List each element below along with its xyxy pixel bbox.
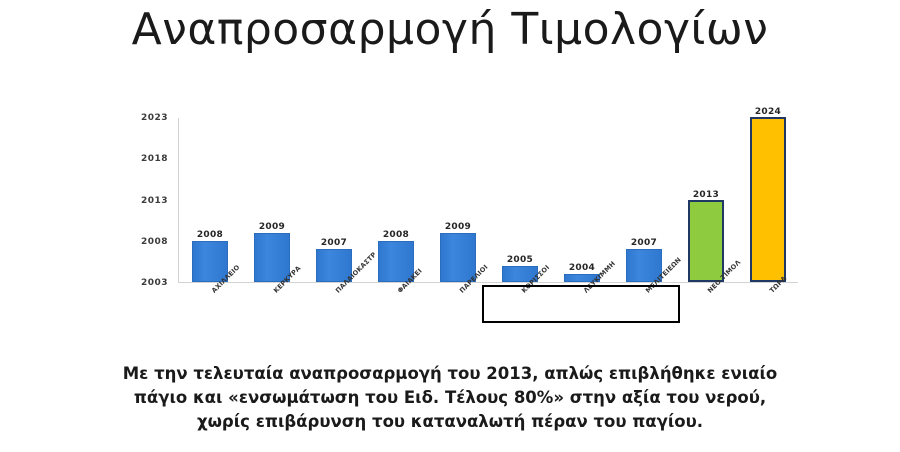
bar-value-label: 2008 [197, 230, 223, 240]
chart-bar[interactable]: 2013 [688, 200, 724, 283]
bar-value-label: 2007 [631, 238, 657, 248]
chart-bar[interactable]: 2024 [750, 117, 786, 282]
caption-line-3: χωρίς επιβάρυνση του καταναλωτή πέραν το… [38, 410, 862, 434]
bar-slot: 2004 [564, 118, 600, 282]
bar-slot: 2024 [750, 118, 786, 282]
bar-value-label: 2007 [321, 238, 347, 248]
bar-chart: 2008200920072008200920052004200720132024… [90, 100, 810, 350]
bar-slot: 2008 [192, 118, 228, 282]
bar-value-label: 2009 [259, 222, 285, 232]
presentation-slide: Αναπροσαρμογή Τιμολογίων 200820092007200… [0, 0, 900, 452]
page-title: Αναπροσαρμογή Τιμολογίων [0, 4, 900, 57]
y-axis-tick-label: 2013 [141, 196, 168, 206]
y-axis-tick-label: 2003 [141, 278, 168, 288]
bar-value-label: 2005 [507, 255, 533, 265]
bar-slot: 2005 [502, 118, 538, 282]
chart-plot-area: 2008200920072008200920052004200720132024 [178, 118, 798, 283]
y-axis-tick-label: 2018 [141, 154, 168, 164]
bar-slot: 2013 [688, 118, 724, 282]
bar-value-label: 2024 [755, 107, 781, 117]
bar-slot: 2009 [254, 118, 290, 282]
bar-value-label: 2004 [569, 263, 595, 273]
caption-line-1: Με την τελευταία αναπροσαρμογή του 2013,… [38, 362, 862, 386]
bar-slot: 2009 [440, 118, 476, 282]
bar-slot: 2007 [316, 118, 352, 282]
bar-value-label: 2013 [693, 190, 719, 200]
caption-line-2: πάγιο και «ενσωμάτωση του Ειδ. Τέλους 80… [38, 386, 862, 410]
y-axis-tick-label: 2023 [141, 113, 168, 123]
bar-slot: 2008 [378, 118, 414, 282]
bar-value-label: 2008 [383, 230, 409, 240]
bar-value-label: 2009 [445, 222, 471, 232]
bar-slot: 2007 [626, 118, 662, 282]
caption-block: Με την τελευταία αναπροσαρμογή του 2013,… [38, 362, 862, 434]
y-axis-tick-label: 2008 [141, 237, 168, 247]
